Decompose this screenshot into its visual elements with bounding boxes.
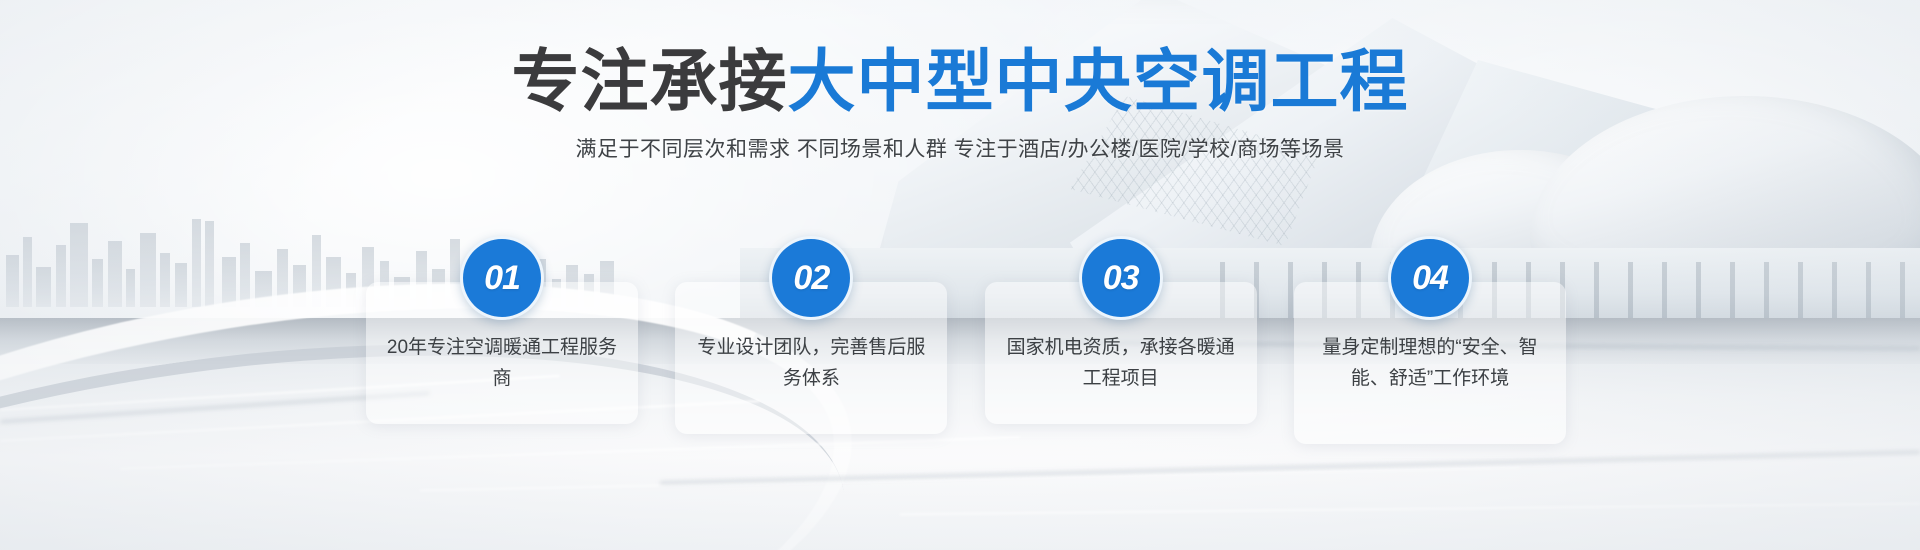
feature-card-text: 量身定制理想的“安全、智能、舒适”工作环境	[1294, 332, 1566, 394]
headline-part-blue: 大中型中央空调工程	[788, 44, 1409, 120]
step-number: 04	[1412, 261, 1448, 295]
feature-card[interactable]: 02 专业设计团队，完善售后服务体系	[675, 282, 947, 434]
step-badge: 04	[1388, 236, 1472, 320]
headline-part-dark: 专注承接	[511, 44, 787, 120]
feature-card[interactable]: 03 国家机电资质，承接各暖通工程项目	[985, 282, 1257, 424]
feature-card[interactable]: 01 20年专注空调暖通工程服务商	[366, 282, 638, 424]
step-number: 02	[793, 261, 829, 295]
step-number: 01	[484, 261, 520, 295]
hero-banner: 专注承接大中型中央空调工程 满足于不同层次和需求 不同场景和人群 专注于酒店/办…	[0, 0, 1920, 550]
step-badge: 03	[1079, 236, 1163, 320]
step-number: 03	[1103, 261, 1139, 295]
feature-card-text: 20年专注空调暖通工程服务商	[366, 332, 638, 394]
page-subtitle: 满足于不同层次和需求 不同场景和人群 专注于酒店/办公楼/医院/学校/商场等场景	[0, 133, 1920, 163]
step-badge: 02	[769, 236, 853, 320]
feature-card[interactable]: 04 量身定制理想的“安全、智能、舒适”工作环境	[1294, 282, 1566, 444]
feature-card-text: 专业设计团队，完善售后服务体系	[675, 332, 947, 394]
step-badge: 01	[460, 236, 544, 320]
page-title: 专注承接大中型中央空调工程	[0, 48, 1920, 116]
feature-card-list: 01 20年专注空调暖通工程服务商 02 专业设计团队，完善售后服务体系 03 …	[366, 282, 1566, 432]
feature-card-text: 国家机电资质，承接各暖通工程项目	[985, 332, 1257, 394]
